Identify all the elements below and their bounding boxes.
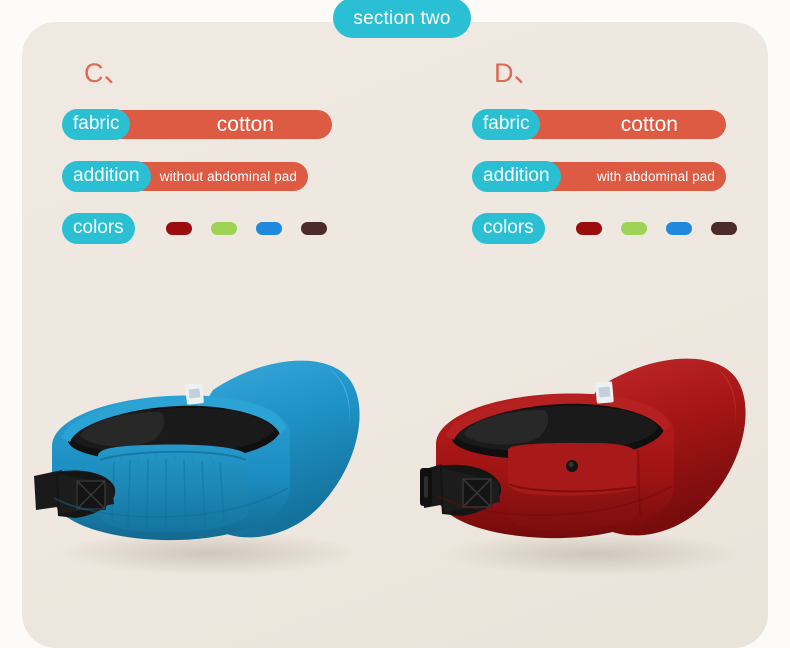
section-badge: section two: [333, 0, 471, 38]
spec-value-fabric-c: cotton: [217, 113, 332, 137]
color-swatch-light-green-c[interactable]: [211, 222, 237, 235]
spec-key-fabric-c: fabric: [62, 109, 130, 140]
spec-row-fabric-c: cotton fabric: [62, 109, 392, 140]
spec-row-colors-d: colors: [472, 213, 790, 244]
spec-key-label-colors-d: colors: [483, 218, 534, 239]
spec-row-addition-d: with abdominal pad addition: [472, 161, 790, 192]
spec-key-colors-d: colors: [472, 213, 545, 244]
product-image-blue-hip-seat-carrier: [28, 338, 378, 588]
spec-value-addition-c: without abdominal pad: [160, 169, 308, 184]
product-column-d: D、 cotton fabric with abdominal pad addi…: [472, 60, 790, 244]
product-image-red-hip-seat-carrier: [408, 338, 758, 588]
front-pocket-blue: [98, 445, 248, 533]
spec-value-fabric-d: cotton: [621, 113, 726, 137]
color-swatch-list-c: [166, 222, 327, 235]
spec-key-label-fabric-c: fabric: [73, 114, 119, 135]
spec-row-colors-c: colors: [62, 213, 392, 244]
product-column-c: C、 cotton fabric without abdominal pad a…: [62, 60, 392, 244]
product-shadow-red: [443, 532, 743, 576]
spec-key-addition-d: addition: [472, 161, 561, 192]
spec-key-label-addition-d: addition: [483, 166, 550, 187]
color-swatch-blue-d[interactable]: [666, 222, 692, 235]
color-swatch-light-green-d[interactable]: [621, 222, 647, 235]
spec-key-addition-c: addition: [62, 161, 151, 192]
spec-row-addition-c: without abdominal pad addition: [62, 161, 392, 192]
care-label-blue: [185, 383, 204, 405]
color-swatch-list-d: [576, 222, 737, 235]
color-swatch-dark-brown-d[interactable]: [711, 222, 737, 235]
infographic-stage: section two C、 cotton fabric without abd…: [0, 0, 790, 648]
column-d-heading: D、: [494, 60, 790, 87]
spec-row-fabric-d: cotton fabric: [472, 109, 790, 140]
spec-value-addition-d: with abdominal pad: [597, 169, 726, 184]
color-swatch-dark-brown-c[interactable]: [301, 222, 327, 235]
spec-key-fabric-d: fabric: [472, 109, 540, 140]
spec-key-label-addition-c: addition: [73, 166, 140, 187]
color-swatch-dark-red-c[interactable]: [166, 222, 192, 235]
care-label-red: [595, 381, 614, 403]
spec-key-label-colors-c: colors: [73, 218, 124, 239]
color-swatch-dark-red-d[interactable]: [576, 222, 602, 235]
color-swatch-blue-c[interactable]: [256, 222, 282, 235]
spec-key-label-fabric-d: fabric: [483, 114, 529, 135]
column-c-heading: C、: [84, 60, 392, 87]
section-badge-label: section two: [353, 6, 450, 30]
spec-key-colors-c: colors: [62, 213, 135, 244]
